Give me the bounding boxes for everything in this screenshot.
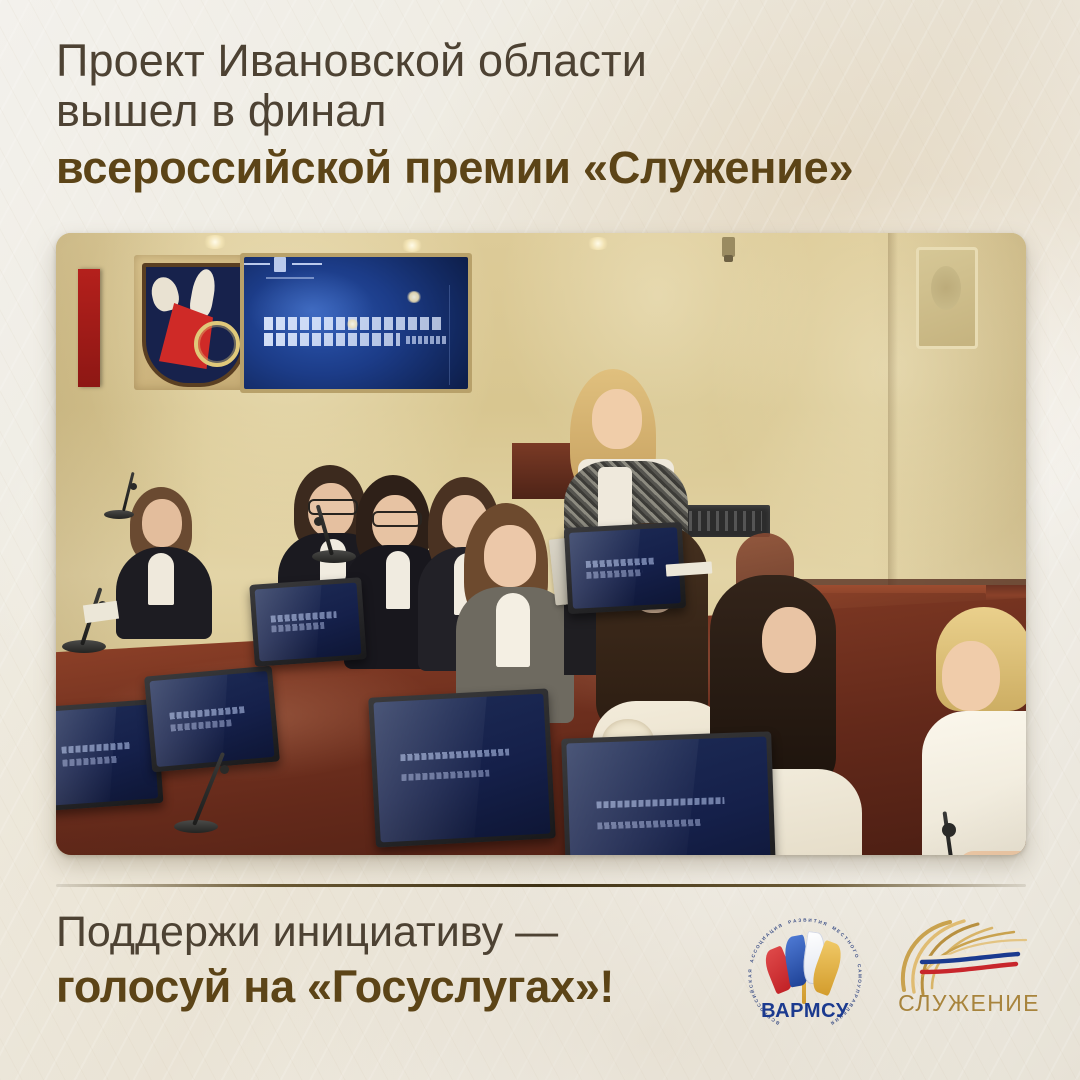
varmsu-logo: ВСЕРОССИЙСКАЯ АССОЦИАЦИЯ РАЗВИТИЯ МЕСТНО… bbox=[742, 912, 868, 1038]
poster-root: Проект Ивановской области вышел в финал … bbox=[0, 0, 1080, 1080]
headline-line-2: вышел в финал bbox=[56, 86, 1046, 136]
section-divider bbox=[56, 884, 1026, 887]
varmsu-name: ВАРМСУ bbox=[742, 1000, 868, 1023]
headline-line-3: всероссийской премии «Служение» bbox=[56, 141, 1046, 195]
headline-block: Проект Ивановской области вышел в финал … bbox=[56, 36, 1046, 195]
sluzhenie-logo: СЛУЖЕНИЕ bbox=[892, 916, 1042, 1032]
photo-vignette bbox=[56, 233, 1026, 855]
sluzhenie-name: СЛУЖЕНИЕ bbox=[896, 990, 1042, 1017]
footer-line-1: Поддержи инициативу — bbox=[56, 908, 756, 957]
event-photo bbox=[56, 233, 1026, 855]
logo-row: ВСЕРОССИЙСКАЯ АССОЦИАЦИЯ РАЗВИТИЯ МЕСТНО… bbox=[742, 912, 1042, 1038]
footer-block: Поддержи инициативу — голосуй на «Госусл… bbox=[56, 908, 756, 1013]
sluzhenie-ribbon-icon bbox=[892, 916, 1042, 996]
footer-line-2: голосуй на «Госуслугах»! bbox=[56, 961, 756, 1013]
headline-line-1: Проект Ивановской области bbox=[56, 36, 1046, 86]
